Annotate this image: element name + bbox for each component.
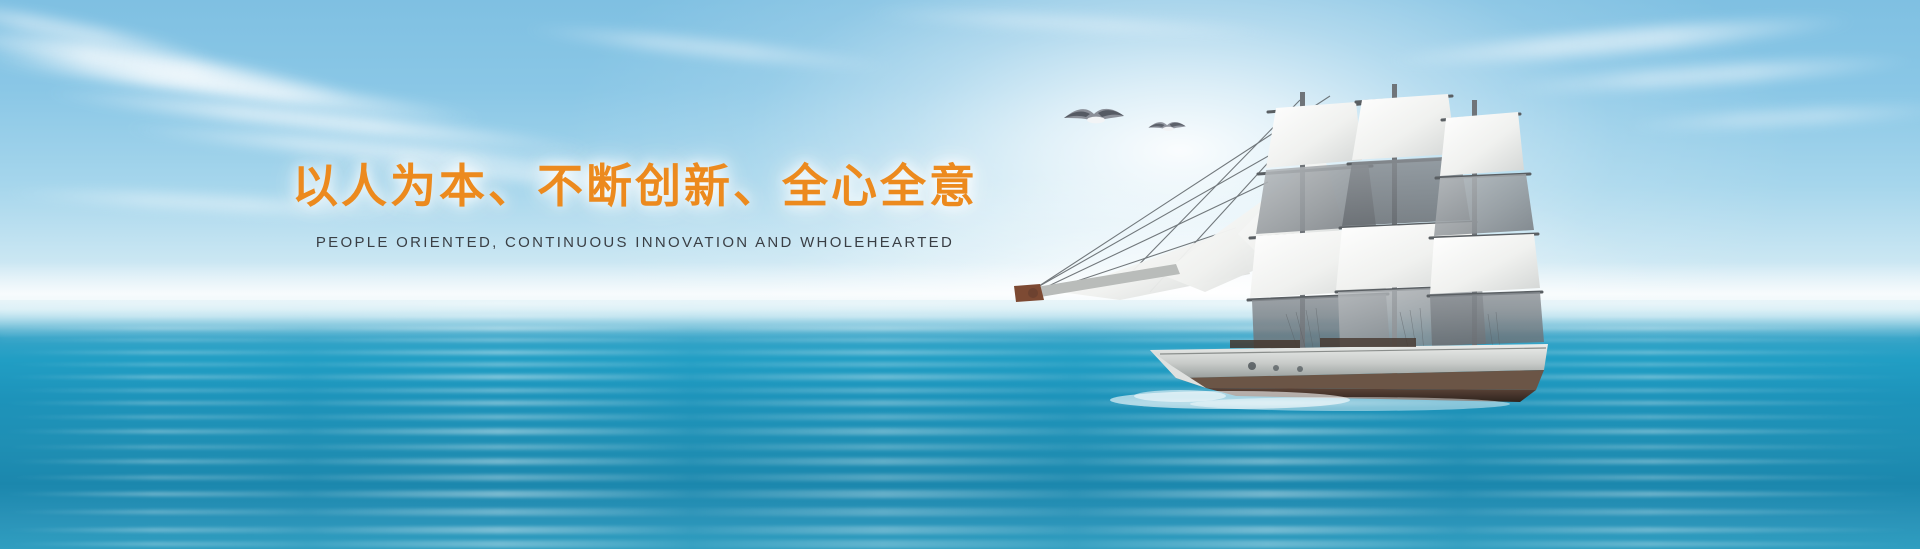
sea-background: [0, 300, 1920, 549]
sky-background: [0, 0, 1920, 320]
seagull-icon: [1064, 109, 1124, 123]
mizzenmast-sails: [1428, 100, 1544, 370]
hero-banner: 以人为本、不断创新、全心全意 PEOPLE ORIENTED, CONTINUO…: [0, 0, 1920, 549]
seagull-icon: [1148, 122, 1185, 131]
seagulls-group: [1060, 96, 1240, 156]
